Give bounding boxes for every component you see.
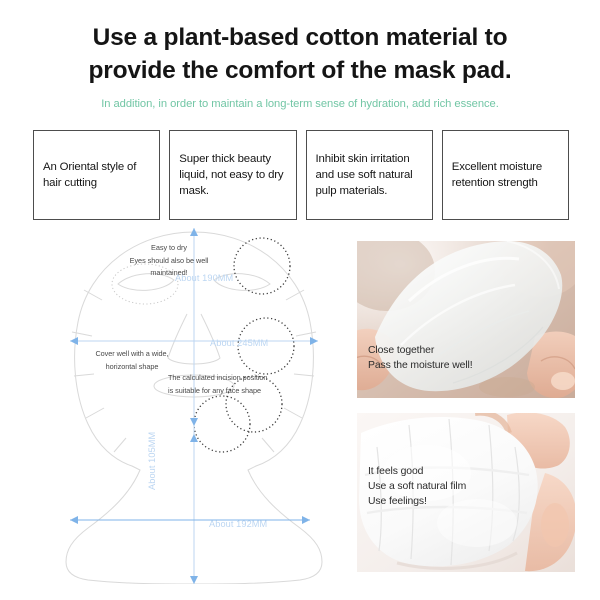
diagram-note-eyes-line-1: Easy to dry xyxy=(108,242,230,255)
diagram-note-eyes-line-2: Eyes should also be well xyxy=(108,255,230,268)
page-headline: Use a plant-based cotton material to pro… xyxy=(0,22,600,87)
dry-cotton-sheet-photo: It feels good Use a soft natural film Us… xyxy=(357,413,575,572)
dry-caption-line-2: Use a soft natural film xyxy=(368,480,466,495)
dry-caption-line-1: It feels good xyxy=(368,465,466,480)
dry-caption-line-3: Use feelings! xyxy=(368,495,466,510)
feature-box-4: Excellent moisture retention strength xyxy=(442,130,569,220)
diagram-note-incision-line-2: is suitable for any face shape xyxy=(168,385,343,398)
diagram-note-eyes-line-3: maintained! xyxy=(108,267,230,280)
dry-cotton-sheet-photo-caption: It feels good Use a soft natural film Us… xyxy=(368,465,466,510)
wet-caption-line-2: Pass the moisture well! xyxy=(368,359,473,374)
lower-content-area: About 190MM About 245MM About 192MM Abou… xyxy=(0,228,600,588)
dimension-label-width-lower: About 192MM xyxy=(209,519,267,529)
headline-line-2: provide the comfort of the mask pad. xyxy=(0,55,600,88)
feature-box-2: Super thick beauty liquid, not easy to d… xyxy=(169,130,296,220)
wet-sheet-mask-photo-caption: Close together Pass the moisture well! xyxy=(368,344,473,374)
diagram-note-cover: Cover well with a wide, horizontal shape xyxy=(71,348,193,373)
feature-box-1-text: An Oriental style of hair cutting xyxy=(43,159,150,191)
wet-sheet-mask-image xyxy=(357,241,575,398)
feature-box-row: An Oriental style of hair cutting Super … xyxy=(33,130,569,220)
dimension-label-height-neck: About 105MM xyxy=(147,432,157,490)
wet-caption-line-1: Close together xyxy=(368,344,473,359)
wet-sheet-mask-photo: Close together Pass the moisture well! xyxy=(357,241,575,398)
diagram-note-cover-line-1: Cover well with a wide, xyxy=(71,348,193,361)
diagram-note-incision-line-1: The calculated incision position xyxy=(168,372,343,385)
feature-box-3-text: Inhibit skin irritation and use soft nat… xyxy=(316,151,423,200)
diagram-note-eyes: Easy to dry Eyes should also be well mai… xyxy=(108,242,230,280)
feature-box-1: An Oriental style of hair cutting xyxy=(33,130,160,220)
feature-box-2-text: Super thick beauty liquid, not easy to d… xyxy=(179,151,286,200)
headline-line-1: Use a plant-based cotton material to xyxy=(0,22,600,55)
feature-box-3: Inhibit skin irritation and use soft nat… xyxy=(306,130,433,220)
dimension-label-width-middle: About 245MM xyxy=(210,338,268,348)
mask-technical-diagram: About 190MM About 245MM About 192MM Abou… xyxy=(44,228,344,584)
diagram-note-incision: The calculated incision position is suit… xyxy=(168,372,343,397)
feature-box-4-text: Excellent moisture retention strength xyxy=(452,159,559,191)
page-subheadline: In addition, in order to maintain a long… xyxy=(0,98,600,110)
